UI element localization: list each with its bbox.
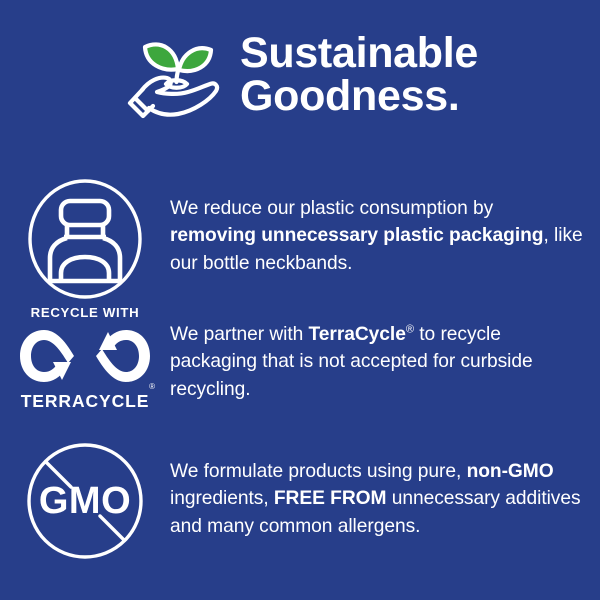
row-3-icon-area: GMO — [0, 440, 170, 562]
row-3-text-part-3: ingredients, — [170, 488, 274, 509]
feature-row-plastic-reduction: We reduce our plastic consumption by rem… — [0, 178, 600, 300]
terracycle-top-label: RECYCLE WITH — [31, 305, 140, 320]
row-3-text-bold-2: FREE FROM — [274, 488, 387, 509]
row-2-text-part-1: We partner with — [170, 324, 309, 345]
row-2-registered-mark: ® — [406, 324, 414, 336]
row-2-icon-area: RECYCLE WITH ® TERRACYCLE — [0, 305, 170, 412]
no-gmo-circle-icon: GMO — [24, 440, 146, 562]
row-2-text: We partner with TerraCycle® to recycle p… — [170, 305, 600, 403]
row-2-text-bold: TerraCycle — [309, 324, 406, 345]
row-1-text: We reduce our plastic consumption by rem… — [170, 178, 600, 277]
gmo-label: GMO — [39, 480, 131, 522]
feature-row-terracycle: RECYCLE WITH ® TERRACYCLE — [0, 305, 600, 412]
row-3-text: We formulate products using pure, non-GM… — [170, 440, 600, 540]
sustainable-goodness-infographic: Sustainable Goodness. We re — [0, 0, 600, 600]
page-title: Sustainable Goodness. — [240, 30, 478, 117]
terracycle-logo-icon: RECYCLE WITH ® TERRACYCLE — [15, 305, 155, 412]
header: Sustainable Goodness. — [0, 26, 600, 122]
terracycle-bottom-label: TERRACYCLE — [21, 391, 150, 412]
feature-row-non-gmo: GMO We formulate products using pure, no… — [0, 440, 600, 562]
plastic-bottle-in-circle-icon — [26, 178, 144, 300]
terracycle-infinity-mark: ® — [17, 322, 153, 390]
row-1-text-bold: removing unnecessary plastic packaging — [170, 225, 543, 246]
row-3-text-part-1: We formulate products using pure, — [170, 461, 467, 482]
row-3-text-bold-1: non-GMO — [467, 461, 554, 482]
registered-trademark-icon: ® — [149, 383, 155, 391]
hand-holding-sprout-icon — [122, 26, 226, 122]
row-1-icon-area — [0, 178, 170, 300]
row-1-text-part-1: We reduce our plastic consumption by — [170, 198, 493, 219]
